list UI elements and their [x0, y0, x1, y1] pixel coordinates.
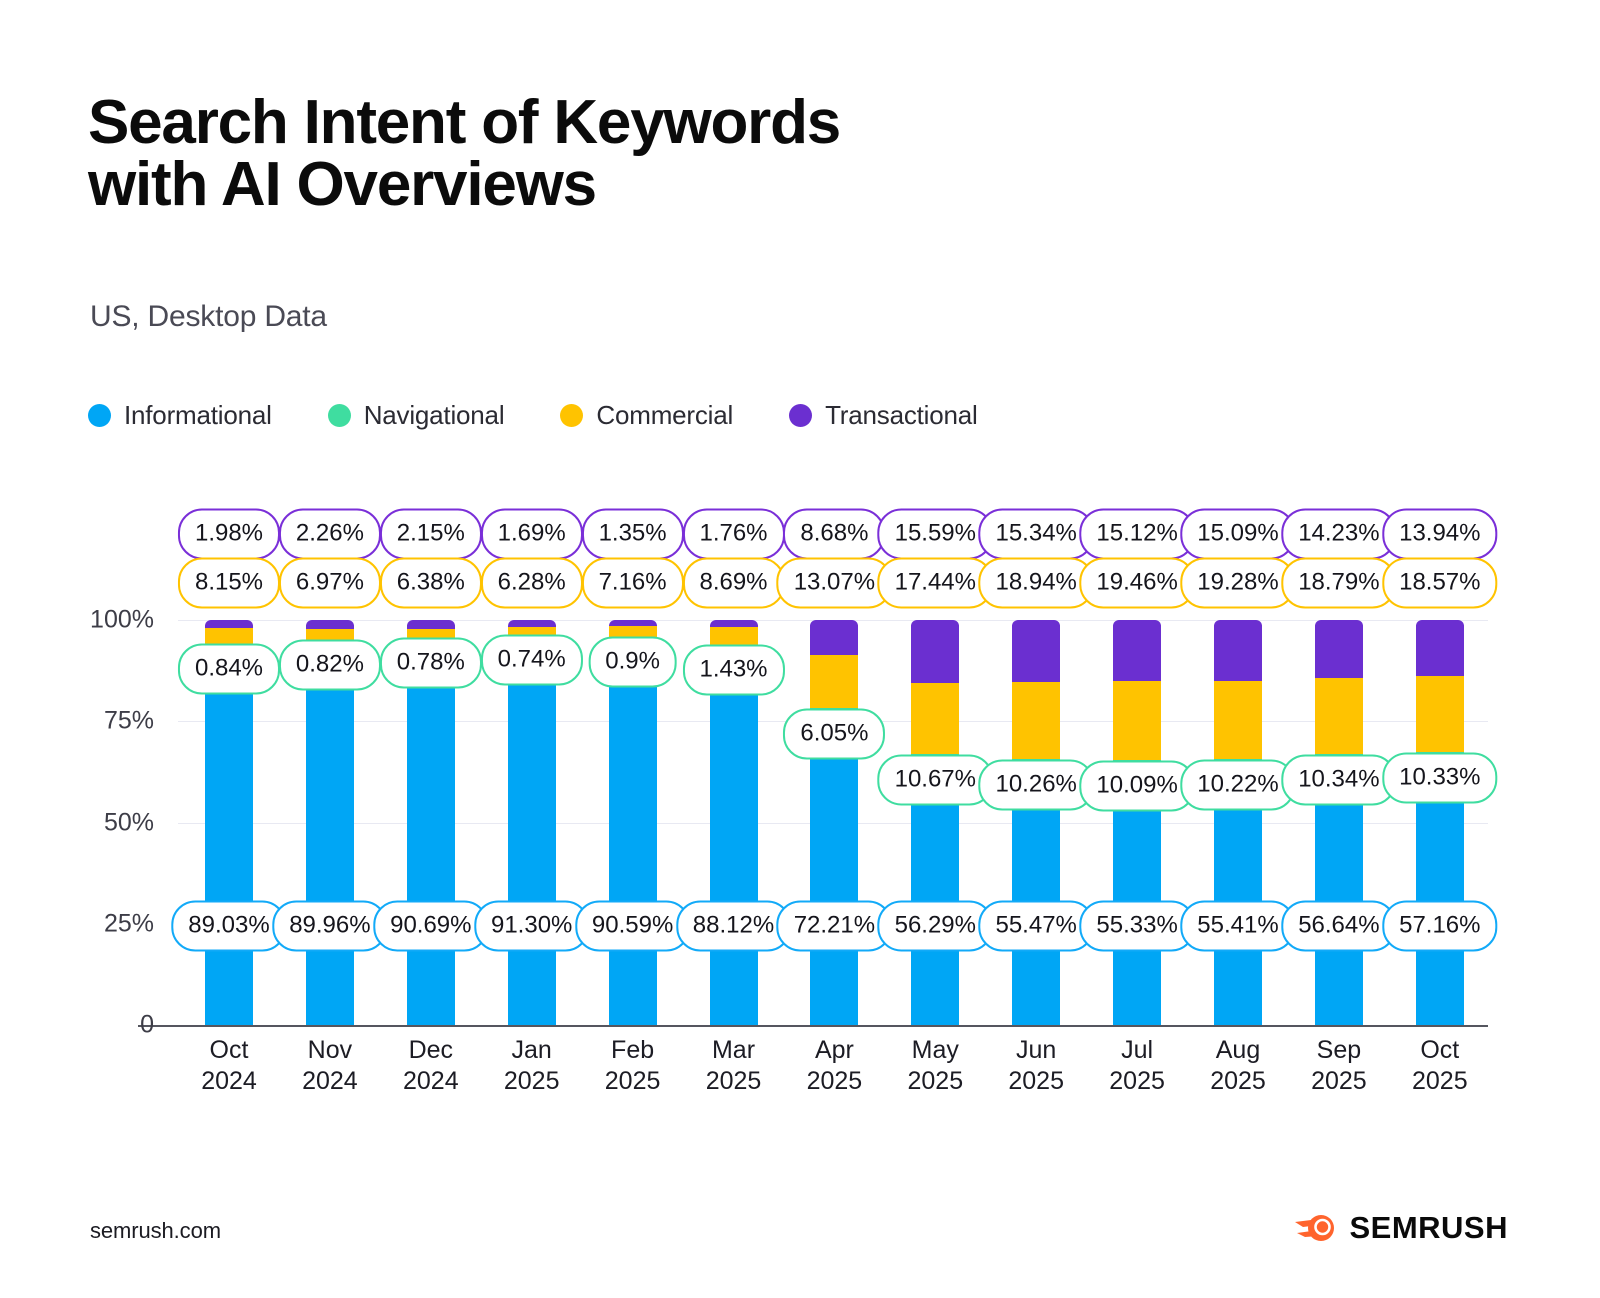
bar-segment-commercial[interactable]	[1113, 681, 1161, 760]
value-pill-navigational: 0.9%	[588, 637, 677, 688]
value-pill-commercial: 13.07%	[777, 558, 892, 609]
semrush-logo: SEMRUSH	[1293, 1208, 1508, 1248]
bar-segment-informational[interactable]	[710, 668, 758, 1025]
bar-segment-informational[interactable]	[407, 658, 455, 1025]
value-pill-navigational: 10.22%	[1180, 760, 1295, 811]
bar-segment-transactional[interactable]	[710, 620, 758, 627]
bar-stack[interactable]	[1315, 620, 1363, 1025]
value-pill-informational: 55.33%	[1079, 900, 1194, 951]
x-axis-tick-label: Oct 2025	[1380, 1035, 1500, 1096]
bar-segment-informational[interactable]	[810, 733, 858, 1025]
value-pill-commercial: 19.46%	[1079, 558, 1194, 609]
value-pill-commercial: 18.57%	[1382, 558, 1497, 609]
value-pill-commercial: 8.69%	[682, 558, 784, 609]
value-pill-commercial: 18.94%	[978, 558, 1093, 609]
bar-segment-transactional[interactable]	[810, 620, 858, 655]
value-pill-transactional: 15.59%	[878, 509, 993, 560]
bar-stack[interactable]	[1012, 620, 1060, 1025]
value-pill-informational: 90.69%	[373, 900, 488, 951]
value-pill-informational: 55.41%	[1180, 900, 1295, 951]
value-pill-transactional: 14.23%	[1281, 509, 1396, 560]
value-pill-informational: 88.12%	[676, 900, 791, 951]
bar-segment-transactional[interactable]	[1416, 620, 1464, 676]
bar-segment-transactional[interactable]	[205, 620, 253, 628]
bar-segment-transactional[interactable]	[1113, 620, 1161, 681]
value-pill-transactional: 1.98%	[178, 509, 280, 560]
value-pill-informational: 56.64%	[1281, 900, 1396, 951]
bar-segment-commercial[interactable]	[810, 655, 858, 708]
value-pill-navigational: 0.82%	[279, 640, 381, 691]
bar-stack[interactable]	[911, 620, 959, 1025]
bar-stack[interactable]	[1214, 620, 1262, 1025]
value-pill-commercial: 7.16%	[582, 558, 684, 609]
value-pill-navigational: 6.05%	[783, 709, 885, 760]
bar-segment-transactional[interactable]	[1012, 620, 1060, 682]
bar-stack[interactable]	[810, 620, 858, 1025]
value-pill-commercial: 8.15%	[178, 558, 280, 609]
value-pill-transactional: 2.15%	[380, 509, 482, 560]
bar-segment-informational[interactable]	[205, 664, 253, 1025]
bar-segment-commercial[interactable]	[1214, 681, 1262, 759]
value-pill-navigational: 0.74%	[481, 635, 583, 686]
value-pill-navigational: 10.67%	[878, 754, 993, 805]
value-pill-transactional: 15.09%	[1180, 509, 1295, 560]
y-axis-tick-label: 0	[34, 1011, 172, 1040]
value-pill-transactional: 2.26%	[279, 509, 381, 560]
y-axis-tick-label: 75%	[34, 707, 172, 736]
bar-stack[interactable]	[1416, 620, 1464, 1025]
value-pill-navigational: 10.33%	[1382, 752, 1497, 803]
value-pill-navigational: 10.09%	[1079, 761, 1194, 812]
bar-segment-transactional[interactable]	[911, 620, 959, 683]
value-pill-commercial: 18.79%	[1281, 558, 1396, 609]
bar-segment-informational[interactable]	[508, 655, 556, 1025]
bar-stack[interactable]	[1113, 620, 1161, 1025]
value-pill-navigational: 10.26%	[978, 759, 1093, 810]
bar-segment-informational[interactable]	[609, 658, 657, 1025]
value-pill-commercial: 6.97%	[279, 558, 381, 609]
y-axis-tick-label: 100%	[34, 606, 172, 635]
value-pill-informational: 55.47%	[978, 900, 1093, 951]
value-pill-informational: 89.96%	[272, 900, 387, 951]
value-pill-informational: 90.59%	[575, 900, 690, 951]
value-pill-transactional: 1.35%	[582, 509, 684, 560]
bar-segment-transactional[interactable]	[508, 620, 556, 627]
footer-url[interactable]: semrush.com	[90, 1218, 221, 1244]
bar-segment-commercial[interactable]	[1315, 678, 1363, 754]
bar-segment-transactional[interactable]	[306, 620, 354, 629]
value-pill-transactional: 8.68%	[783, 509, 885, 560]
bar-segment-transactional[interactable]	[1214, 620, 1262, 681]
value-pill-informational: 57.16%	[1382, 900, 1497, 951]
bar-segment-informational[interactable]	[306, 661, 354, 1025]
value-pill-transactional: 1.76%	[682, 509, 784, 560]
y-axis-tick-label: 50%	[34, 808, 172, 837]
value-pill-transactional: 13.94%	[1382, 509, 1497, 560]
bar-segment-commercial[interactable]	[1416, 676, 1464, 751]
value-pill-commercial: 17.44%	[878, 558, 993, 609]
bar-segment-commercial[interactable]	[1012, 682, 1060, 759]
bar-segment-commercial[interactable]	[911, 683, 959, 754]
value-pill-informational: 89.03%	[171, 900, 286, 951]
x-axis-line	[138, 1025, 1488, 1027]
value-pill-navigational: 0.78%	[380, 637, 482, 688]
value-pill-commercial: 6.28%	[481, 558, 583, 609]
value-pill-informational: 91.30%	[474, 900, 589, 951]
bar-segment-transactional[interactable]	[1315, 620, 1363, 678]
value-pill-commercial: 19.28%	[1180, 558, 1295, 609]
value-pill-navigational: 10.34%	[1281, 754, 1396, 805]
value-pill-commercial: 6.38%	[380, 558, 482, 609]
value-pill-transactional: 15.12%	[1079, 509, 1194, 560]
value-pill-transactional: 15.34%	[978, 509, 1093, 560]
infographic-page: Search Intent of Keywords with AI Overvi…	[0, 0, 1600, 1298]
value-pill-informational: 72.21%	[777, 900, 892, 951]
value-pill-navigational: 1.43%	[682, 645, 784, 696]
value-pill-transactional: 1.69%	[481, 509, 583, 560]
value-pill-informational: 56.29%	[878, 900, 993, 951]
semrush-comet-icon	[1293, 1208, 1337, 1248]
brand-name: SEMRUSH	[1349, 1210, 1508, 1246]
value-pill-navigational: 0.84%	[178, 644, 280, 695]
y-axis-tick-label: 25%	[34, 909, 172, 938]
bar-segment-transactional[interactable]	[407, 620, 455, 629]
